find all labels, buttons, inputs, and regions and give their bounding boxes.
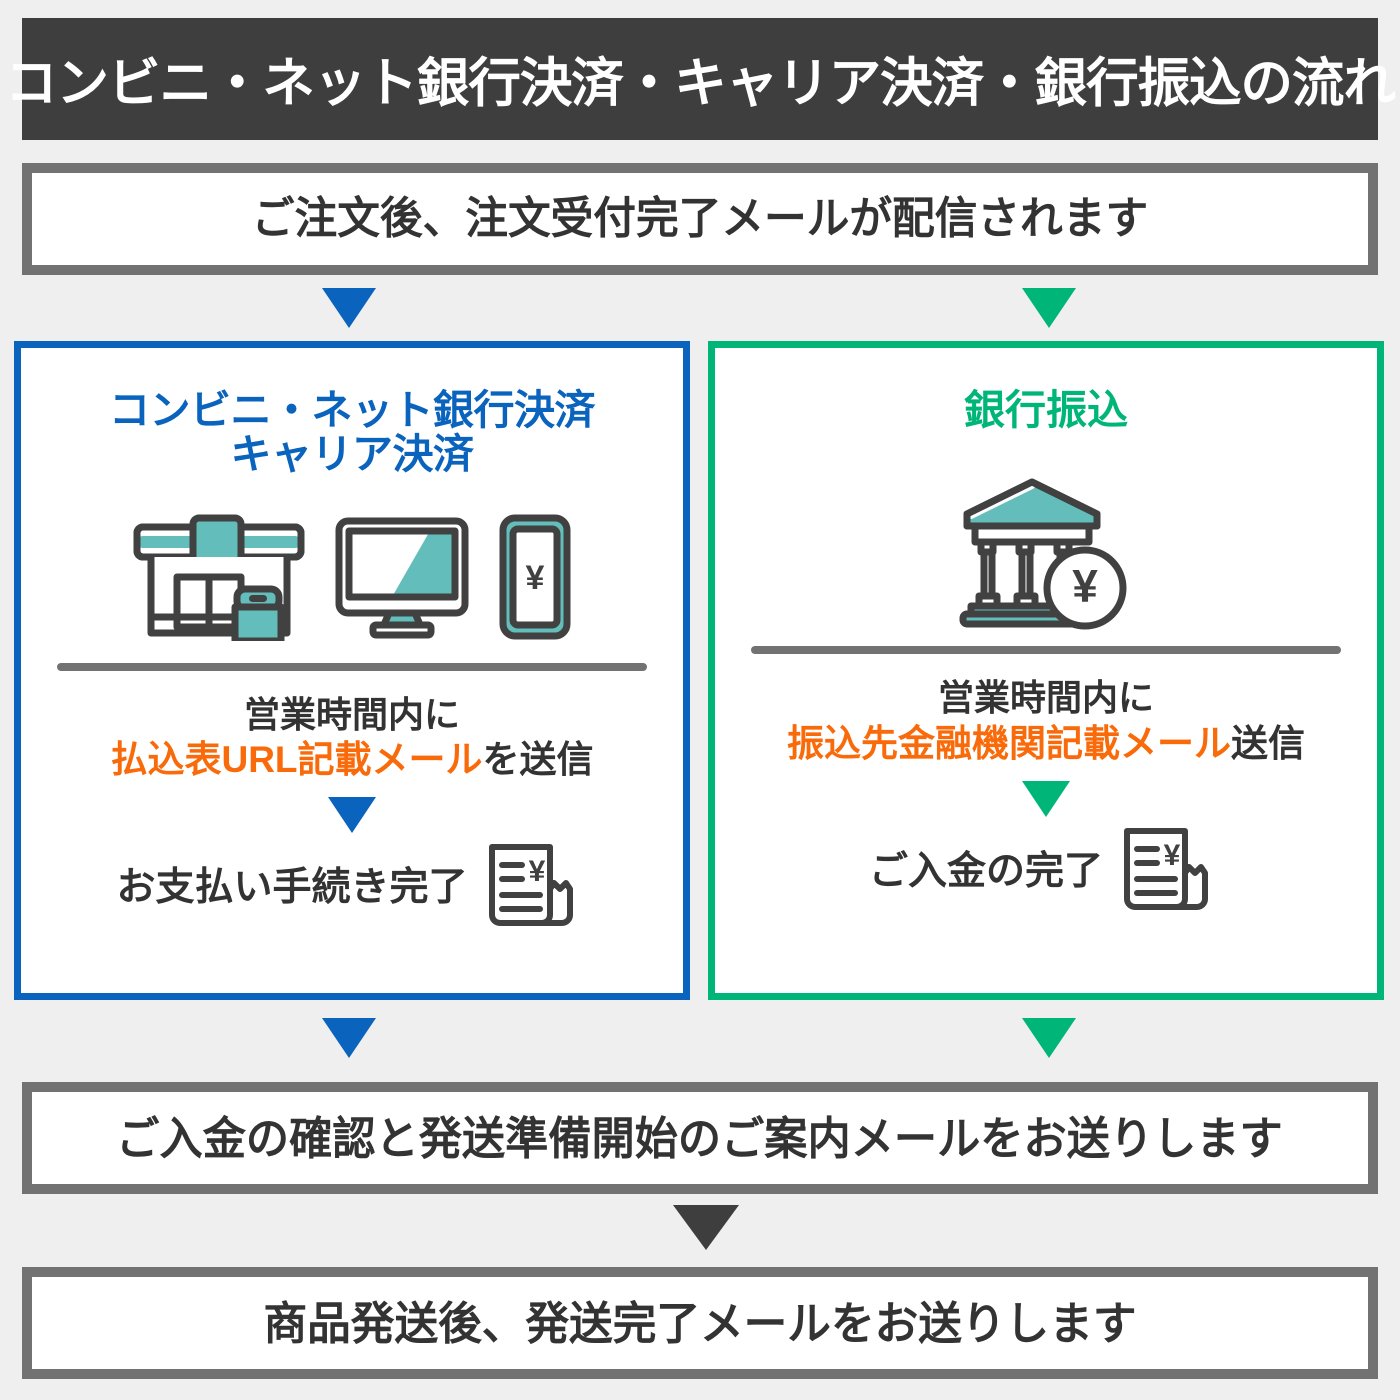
diagram-header: コンビニ・ネット銀行決済・キャリア決済・銀行振込の流れ [22,18,1378,140]
svg-text:¥: ¥ [1164,839,1181,872]
panel-conveni-note-line1: 営業時間内に [49,693,655,738]
panel-conveni-note-suffix: を送信 [483,739,594,780]
panel-bank-divider [751,646,1341,654]
panel-conveni-note: 営業時間内に 払込表URL記載メールを送信 [49,693,655,784]
panel-conveni-icon-row: ¥ [49,501,655,641]
panel-bank-inner-arrow-wrap [743,781,1349,817]
step-payment-confirm-box: ご入金の確認と発送準備開始のご案内メールをお送りします [22,1082,1378,1194]
desktop-monitor-icon [333,515,471,641]
panel-convenience-payment: コンビニ・ネット銀行決済 キャリア決済 [14,341,690,1000]
receipt-yen-icon: ¥ [1117,823,1223,913]
svg-text:¥: ¥ [1072,560,1098,612]
panel-bank-icon-row: ¥ [743,480,1349,630]
arrow-down-blue-icon [322,288,376,328]
panel-conveni-final-row: お支払い手続き完了 ¥ [49,839,655,929]
panel-conveni-inner-arrow-wrap [49,797,655,833]
panel-conveni-title: コンビニ・ネット銀行決済 キャリア決済 [49,388,655,477]
arrow-down-blue-icon [322,1018,376,1058]
arrow-down-green-icon [1022,1018,1076,1058]
panel-conveni-final-label: お支払い手続き完了 [116,856,467,912]
step-payment-confirm-label: ご入金の確認と発送準備開始のご案内メールをお送りします [117,1116,1283,1161]
step-shipped-label: 商品発送後、発送完了メールをお送りします [263,1301,1136,1346]
convenience-store-icon [131,513,307,641]
step-order-label: ご注文後、注文受付完了メールが配信されます [252,197,1148,241]
panel-bank-final-row: ご入金の完了 ¥ [743,823,1349,913]
arrow-down-blue-icon [328,797,376,833]
arrow-down-green-icon [1022,781,1070,817]
receipt-yen-icon: ¥ [482,839,588,929]
panel-conveni-note-highlight: 払込表URL記載メール [110,739,482,780]
header-title: コンビニ・ネット銀行決済・キャリア決済・銀行振込の流れ [5,41,1395,117]
svg-text:¥: ¥ [526,559,545,597]
panel-bank-note-line1: 営業時間内に [743,676,1349,721]
payment-flow-diagram: コンビニ・ネット銀行決済・キャリア決済・銀行振込の流れ ご注文後、注文受付完了メ… [0,0,1400,1400]
arrow-down-dark-icon [673,1205,739,1250]
panel-bank-note-suffix: 送信 [1231,723,1305,764]
panel-bank-note: 営業時間内に 振込先金融機関記載メール送信 [743,676,1349,767]
panel-bank-transfer: 銀行振込 [708,341,1384,1000]
bank-building-yen-icon: ¥ [957,478,1135,630]
step-shipped-box: 商品発送後、発送完了メールをお送りします [22,1267,1378,1379]
smartphone-yen-icon: ¥ [497,513,573,641]
panel-conveni-divider [57,663,647,671]
panel-bank-final-label: ご入金の完了 [869,840,1103,896]
panel-bank-note-highlight: 振込先金融機関記載メール [787,723,1231,764]
panel-bank-title: 銀行振込 [743,388,1349,432]
step-order-box: ご注文後、注文受付完了メールが配信されます [22,163,1378,275]
svg-text:¥: ¥ [528,855,545,888]
arrow-down-green-icon [1022,288,1076,328]
